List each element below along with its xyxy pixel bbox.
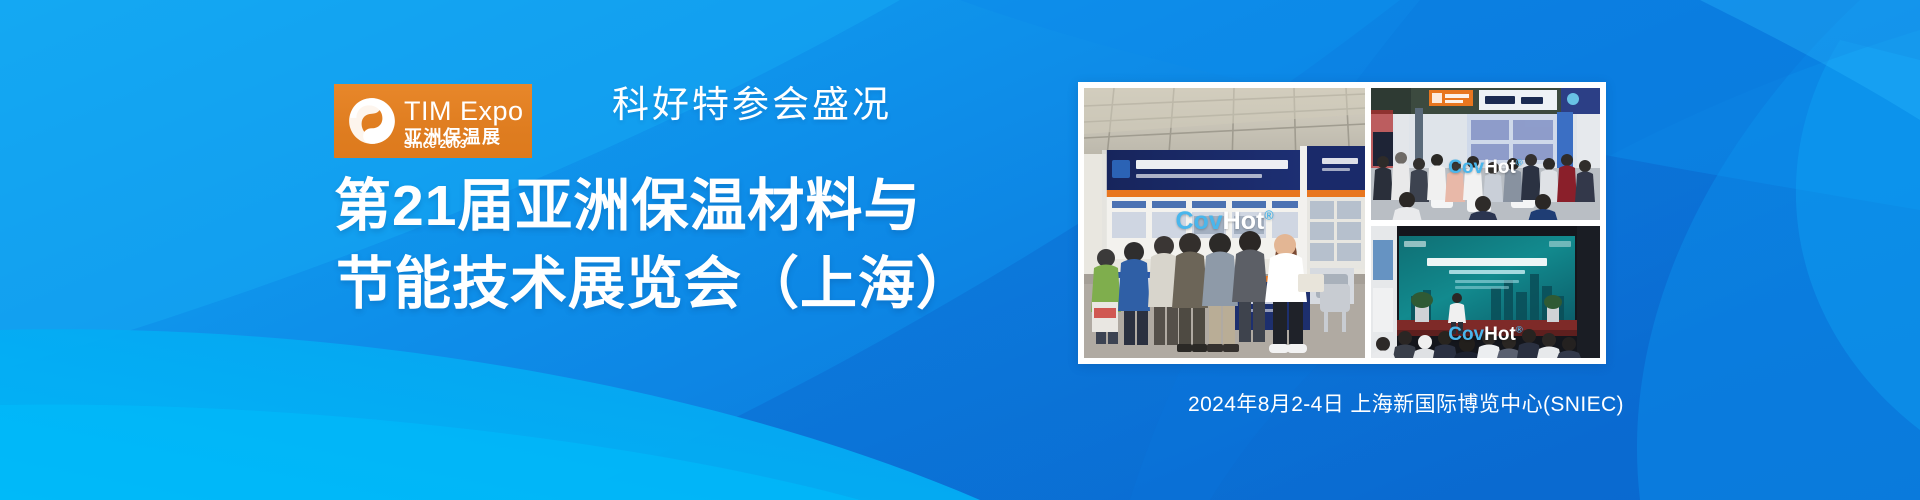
logo-title-en: TIM Expo [404, 98, 524, 125]
tim-expo-logo-badge[interactable]: TIM Expo 亚洲保温展 Since 2003 [334, 84, 532, 158]
photo-forum-stage: CovHot® [1371, 226, 1600, 358]
event-date-venue: 2024年8月2-4日 上海新国际博览中心(SNIEC) [1188, 388, 1624, 418]
logo-since-text: Since 2003 [404, 139, 466, 151]
kicker-text: 科好特参会盛况 [612, 74, 892, 128]
headline-line-2: 节能技术展览会（上海） [334, 246, 974, 324]
tim-expo-yin-yang-swirl-icon [346, 95, 398, 147]
exhibition-banner: TIM Expo 亚洲保温展 Since 2003 科好特参会盛况 第21届亚洲… [0, 0, 1920, 500]
photo-booth-main: CovHot® [1084, 88, 1365, 358]
collage-right-column: CovHot® [1371, 88, 1600, 358]
photo-hall-crowd: CovHot® [1371, 88, 1600, 220]
headline-line-1: 第21届亚洲保温材料与 [334, 168, 974, 246]
photo-collage: CovHot® [1078, 82, 1606, 364]
page-title: 第21届亚洲保温材料与 节能技术展览会（上海） [334, 168, 974, 323]
